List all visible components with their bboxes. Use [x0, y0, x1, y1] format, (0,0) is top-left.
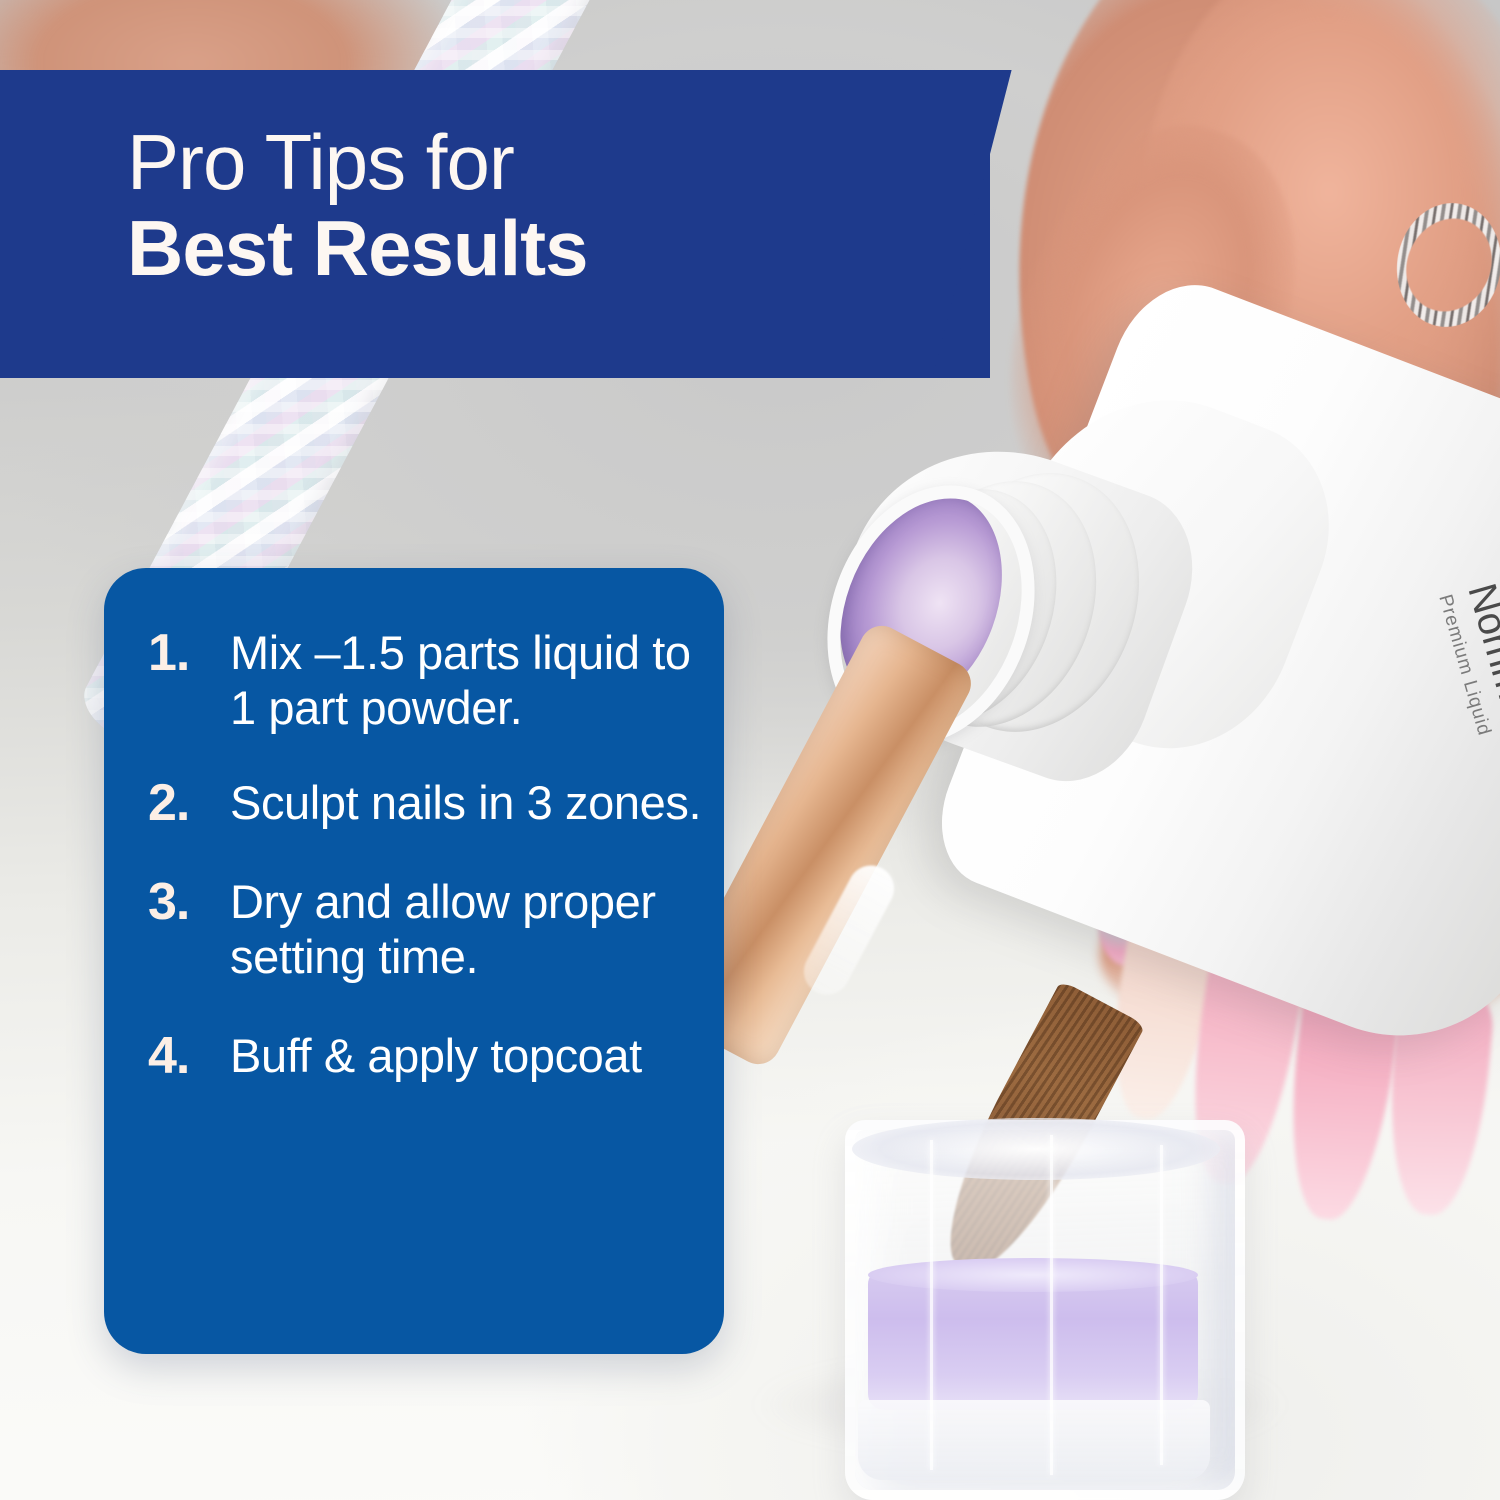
dappen-dish-rim: [852, 1118, 1220, 1180]
step-number: 2.: [148, 776, 230, 831]
step-text: Dry and allow proper setting time.: [230, 875, 708, 985]
step-text: Mix –1.5 parts liquid to 1 part powder.: [230, 626, 708, 736]
dish-liquid-surface: [868, 1258, 1198, 1292]
list-item: 2. Sculpt nails in 3 zones.: [148, 776, 708, 831]
glass-facet: [1160, 1145, 1163, 1465]
steps-list: 1. Mix –1.5 parts liquid to 1 part powde…: [148, 626, 708, 1084]
list-item: 4. Buff & apply topcoat: [148, 1029, 708, 1084]
title-line-1: Pro Tips for: [127, 120, 947, 206]
list-item: 3. Dry and allow proper setting time.: [148, 875, 708, 985]
step-text: Sculpt nails in 3 zones.: [230, 776, 701, 831]
dappen-dish-base: [858, 1400, 1210, 1480]
glass-facet: [930, 1140, 933, 1470]
list-item: 1. Mix –1.5 parts liquid to 1 part powde…: [148, 626, 708, 736]
step-text: Buff & apply topcoat: [230, 1029, 642, 1084]
page-title: Pro Tips for Best Results: [127, 120, 947, 292]
infographic-canvas: DeEnti Nomma Plus® Premium Liquid Pro Ti…: [0, 0, 1500, 1500]
glass-facet: [1050, 1135, 1053, 1475]
step-number: 3.: [148, 875, 230, 930]
title-line-2: Best Results: [127, 206, 947, 292]
step-number: 4.: [148, 1029, 230, 1084]
step-number: 1.: [148, 626, 230, 681]
